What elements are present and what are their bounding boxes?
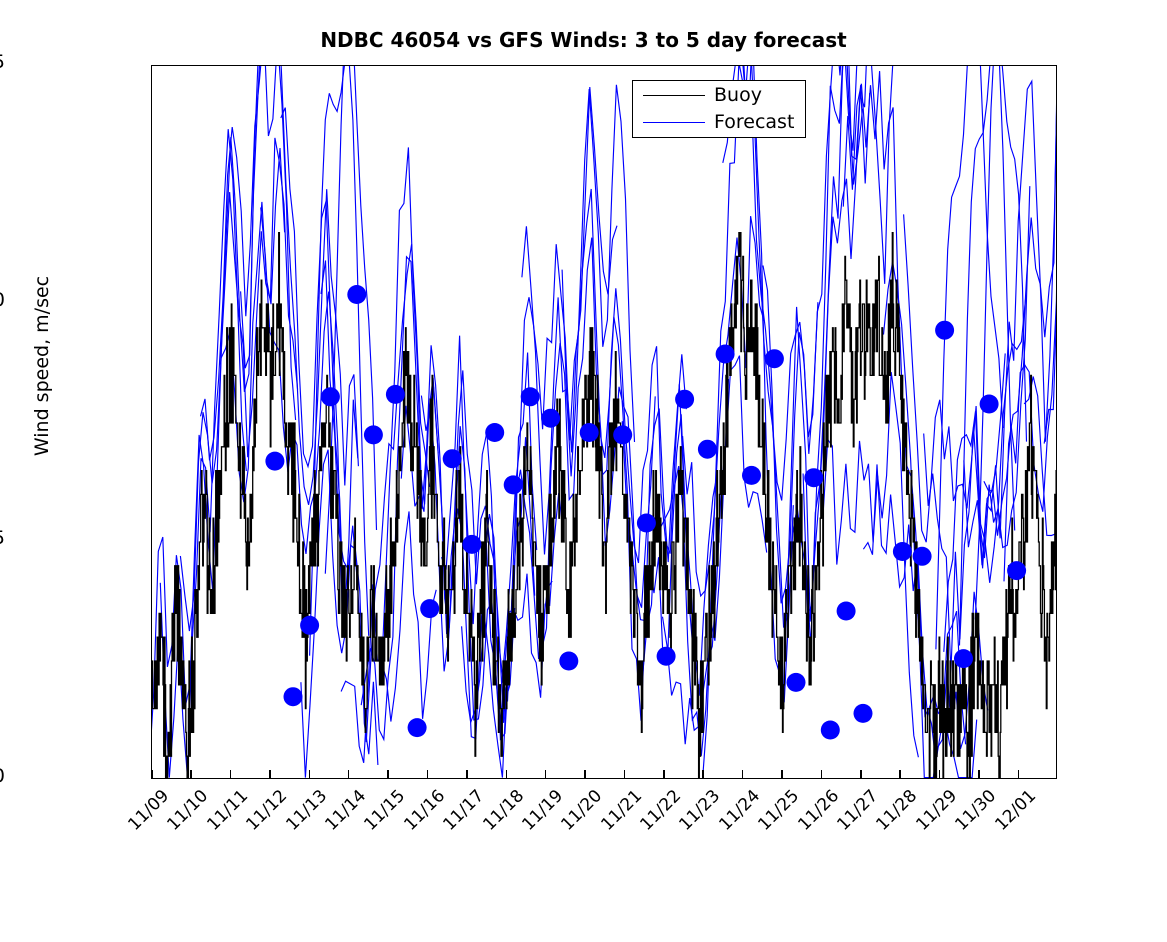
x-axis-tick-mark xyxy=(821,770,823,779)
forecast-marker-point xyxy=(485,423,504,442)
y-axis-tick-label: 5 xyxy=(0,529,5,548)
forecast-marker-point xyxy=(559,652,578,671)
x-axis-tick-mark xyxy=(624,770,626,779)
x-axis-tick-mark xyxy=(584,770,586,779)
x-axis-tick-mark xyxy=(387,770,389,779)
forecast-marker-point xyxy=(765,349,784,368)
forecast-marker-point xyxy=(787,673,806,692)
forecast-marker-point xyxy=(443,449,462,468)
x-axis-tick-mark xyxy=(702,770,704,779)
forecast-marker-point xyxy=(521,387,540,406)
forecast-marker-point xyxy=(980,395,999,414)
x-axis-tick-mark xyxy=(781,770,783,779)
x-axis-tick-mark xyxy=(190,770,192,779)
x-axis-tick-mark xyxy=(860,770,862,779)
page-title: NDBC 46054 vs GFS Winds: 3 to 5 day fore… xyxy=(0,28,1167,52)
chart-page: NDBC 46054 vs GFS Winds: 3 to 5 day fore… xyxy=(0,0,1167,875)
forecast-marker-point xyxy=(854,704,873,723)
legend-item-forecast: Forecast xyxy=(633,110,805,135)
forecast-marker-point xyxy=(541,409,560,428)
forecast-marker-point xyxy=(893,542,912,561)
legend-label-buoy: Buoy xyxy=(714,86,762,105)
x-axis-tick-mark xyxy=(939,770,941,779)
forecast-marker-point xyxy=(364,425,383,444)
forecast-marker-point xyxy=(1007,561,1026,580)
forecast-marker-point xyxy=(284,687,303,706)
forecast-marker-point xyxy=(321,387,340,406)
forecast-marker-point xyxy=(265,452,284,471)
forecast-marker-point xyxy=(913,547,932,566)
forecast-marker-point xyxy=(821,721,840,740)
legend-label-forecast: Forecast xyxy=(714,113,794,132)
x-axis-tick-mark xyxy=(899,770,901,779)
forecast-marker-point xyxy=(408,718,427,737)
x-axis-tick-mark xyxy=(230,770,232,779)
x-axis-tick-mark xyxy=(427,770,429,779)
forecast-marker-point xyxy=(954,649,973,668)
x-axis-tick-mark xyxy=(466,770,468,779)
x-axis-tick-mark xyxy=(506,770,508,779)
forecast-marker-point xyxy=(716,345,735,364)
y-axis-tick-label: 15 xyxy=(0,53,5,72)
plot-area xyxy=(151,65,1057,779)
forecast-marker-point xyxy=(935,321,954,340)
x-axis-tick-mark xyxy=(545,770,547,779)
x-axis-tick-mark xyxy=(309,770,311,779)
forecast-marker-point xyxy=(675,390,694,409)
forecast-marker-point xyxy=(698,440,717,459)
x-axis-tick-mark xyxy=(742,770,744,779)
forecast-marker-point xyxy=(386,385,405,404)
y-axis-tick-label: 10 xyxy=(0,291,5,310)
forecast-marker-point xyxy=(504,475,523,494)
forecast-marker-point xyxy=(580,423,599,442)
forecast-marker-point xyxy=(613,425,632,444)
x-axis-tick-mark xyxy=(978,770,980,779)
forecast-marker-point xyxy=(420,599,439,618)
forecast-marker-point xyxy=(637,514,656,533)
forecast-marker-point xyxy=(347,285,366,304)
forecast-marker-point xyxy=(657,647,676,666)
forecast-marker-point xyxy=(742,466,761,485)
x-axis-tick-mark xyxy=(663,770,665,779)
x-axis-tick-mark xyxy=(348,770,350,779)
y-axis-label: Wind speed, m/sec xyxy=(31,106,53,626)
forecast-marker-point xyxy=(837,602,856,621)
legend-swatch-buoy xyxy=(643,95,705,96)
forecast-marker-point xyxy=(804,468,823,487)
legend-item-buoy: Buoy xyxy=(633,83,805,108)
legend[interactable]: Buoy Forecast xyxy=(632,80,806,138)
forecast-marker-point xyxy=(462,535,481,554)
y-axis-tick-label: 0 xyxy=(0,767,5,786)
plot-canvas xyxy=(152,66,1057,779)
x-axis-tick-mark xyxy=(151,770,153,779)
forecast-marker-point xyxy=(300,616,319,635)
x-axis-tick-mark xyxy=(1018,770,1020,779)
x-axis-tick-mark xyxy=(269,770,271,779)
legend-swatch-forecast xyxy=(643,122,705,123)
